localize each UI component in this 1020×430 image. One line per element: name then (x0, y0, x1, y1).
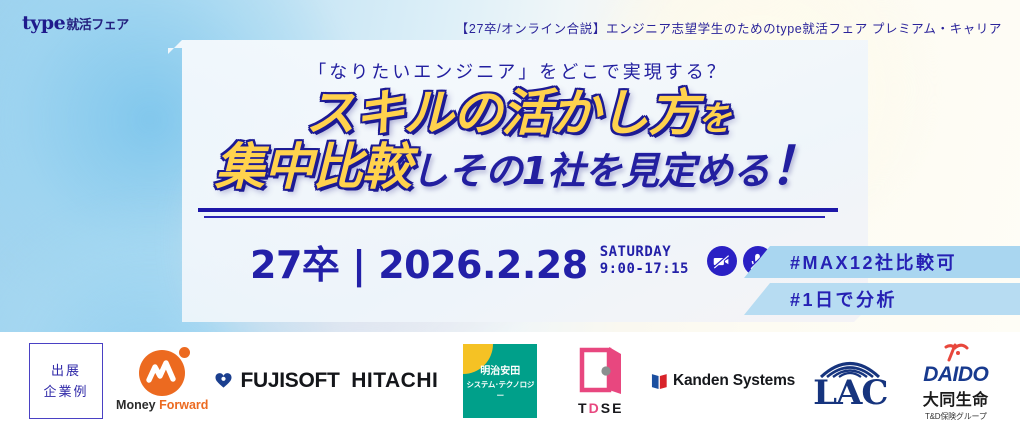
date-row: 27卒 | 2026.2.28 SATURDAY 9:00-17:15 (198, 234, 838, 289)
headline-row-2: 集中比較しその1社を見定める！ (215, 141, 821, 194)
headline: スキルの活かし方を 集中比較しその1社を見定める！ (215, 88, 821, 194)
headline-line1-particle: を (698, 99, 731, 139)
kanden-logo: Kanden Systems (651, 372, 795, 390)
event-subheader: 【27卒/オンライン合説】エンジニア志望学生のためのtype就活フェア プレミア… (0, 18, 1002, 37)
tdse-wordmark: TDSE (578, 400, 623, 416)
lac-wordmark: LAC (813, 378, 887, 409)
sponsor-strip: 出展 企業例 Money Forward F (0, 332, 1020, 430)
lac-logo: LAC (807, 352, 893, 409)
kanden-book-icon (651, 372, 668, 390)
daido-logo: DAIDO 大同生命 T&D保険グループ (923, 341, 989, 422)
sponsor-daido-life[interactable]: DAIDO 大同生命 T&D保険グループ (906, 341, 1006, 422)
sponsor-hitachi[interactable]: HITACHI (340, 369, 451, 393)
headline-exclamation: ！ (769, 141, 821, 194)
divider-rules (198, 208, 838, 218)
headline-line2-rest: しその1社を見定める (411, 152, 769, 191)
sponsor-meiji-yasuda[interactable]: 明治安田 システム･テクノロジー (450, 344, 550, 418)
money-forward-logo: Money Forward (116, 350, 208, 412)
date-time: 9:00-17:15 (600, 261, 689, 278)
divider-thin (204, 216, 825, 218)
tdse-t: T (578, 400, 589, 416)
divider-thick (198, 208, 838, 212)
sponsor-fujisoft[interactable]: FUJISOFT (212, 369, 339, 393)
money-forward-wordmark: Money Forward (116, 398, 208, 412)
card-subtitle: 「なりたいエンジニア」をどこで実現する？ (308, 58, 727, 84)
kanden-wordmark: Kanden Systems (673, 372, 795, 390)
tdse-se: SE (601, 400, 624, 416)
sponsor-kanden-systems[interactable]: Kanden Systems (651, 372, 795, 390)
tdse-door-icon (578, 347, 624, 395)
event-banner: type 就活フェア 【27卒/オンライン合説】エンジニア志望学生のためのtyp… (0, 0, 1020, 430)
tdse-d: D (589, 400, 601, 416)
mf-word-a: Money (116, 398, 159, 412)
ribbon-one-day: #1日で分析 (744, 283, 1020, 315)
camera-off-icon (707, 246, 737, 276)
date-main: 27卒 | 2026.2.28 (250, 234, 588, 289)
hitachi-wordmark: HITACHI (351, 369, 438, 393)
headline-row-1: スキルの活かし方を (215, 88, 821, 139)
deten-line1: 出展 (51, 360, 81, 381)
money-forward-dot (179, 347, 190, 358)
headline-line2-highlight: 集中比較 (215, 142, 411, 193)
ribbon-max12: #MAX12社比較可 (744, 246, 1020, 278)
daido-figure-icon (929, 341, 983, 363)
headline-line1-highlight: スキルの活かし方 (306, 84, 698, 142)
sponsor-lac[interactable]: LAC (795, 352, 906, 409)
daido-jp-wordmark: 大同生命 (923, 386, 989, 410)
fujisoft-logo: FUJISOFT (212, 369, 339, 393)
daido-en-wordmark: DAIDO (923, 364, 988, 385)
feature-ribbons: #MAX12社比較可 #1日で分析 (744, 246, 1020, 315)
fujisoft-icon (212, 371, 235, 392)
tdse-logo: TDSE (578, 347, 624, 416)
meiji-yasuda-logo: 明治安田 システム･テクノロジー (463, 344, 537, 418)
sponsor-tdse[interactable]: TDSE (551, 347, 651, 416)
date-weekday: SATURDAY (600, 244, 689, 261)
deten-line2: 企業例 (43, 381, 88, 402)
mf-word-b: Forward (159, 398, 208, 412)
sponsor-label-box: 出展 企業例 (14, 343, 112, 419)
fujisoft-wordmark: FUJISOFT (240, 369, 339, 393)
sponsor-money-forward[interactable]: Money Forward (112, 350, 212, 412)
deten-kigyou-box: 出展 企業例 (29, 343, 103, 419)
meiji-line2: システム･テクノロジー (463, 379, 537, 401)
date-side: SATURDAY 9:00-17:15 (600, 244, 689, 278)
money-forward-icon (139, 350, 185, 396)
meiji-line1: 明治安田 (480, 362, 520, 377)
daido-group-label: T&D保険グループ (925, 411, 987, 422)
